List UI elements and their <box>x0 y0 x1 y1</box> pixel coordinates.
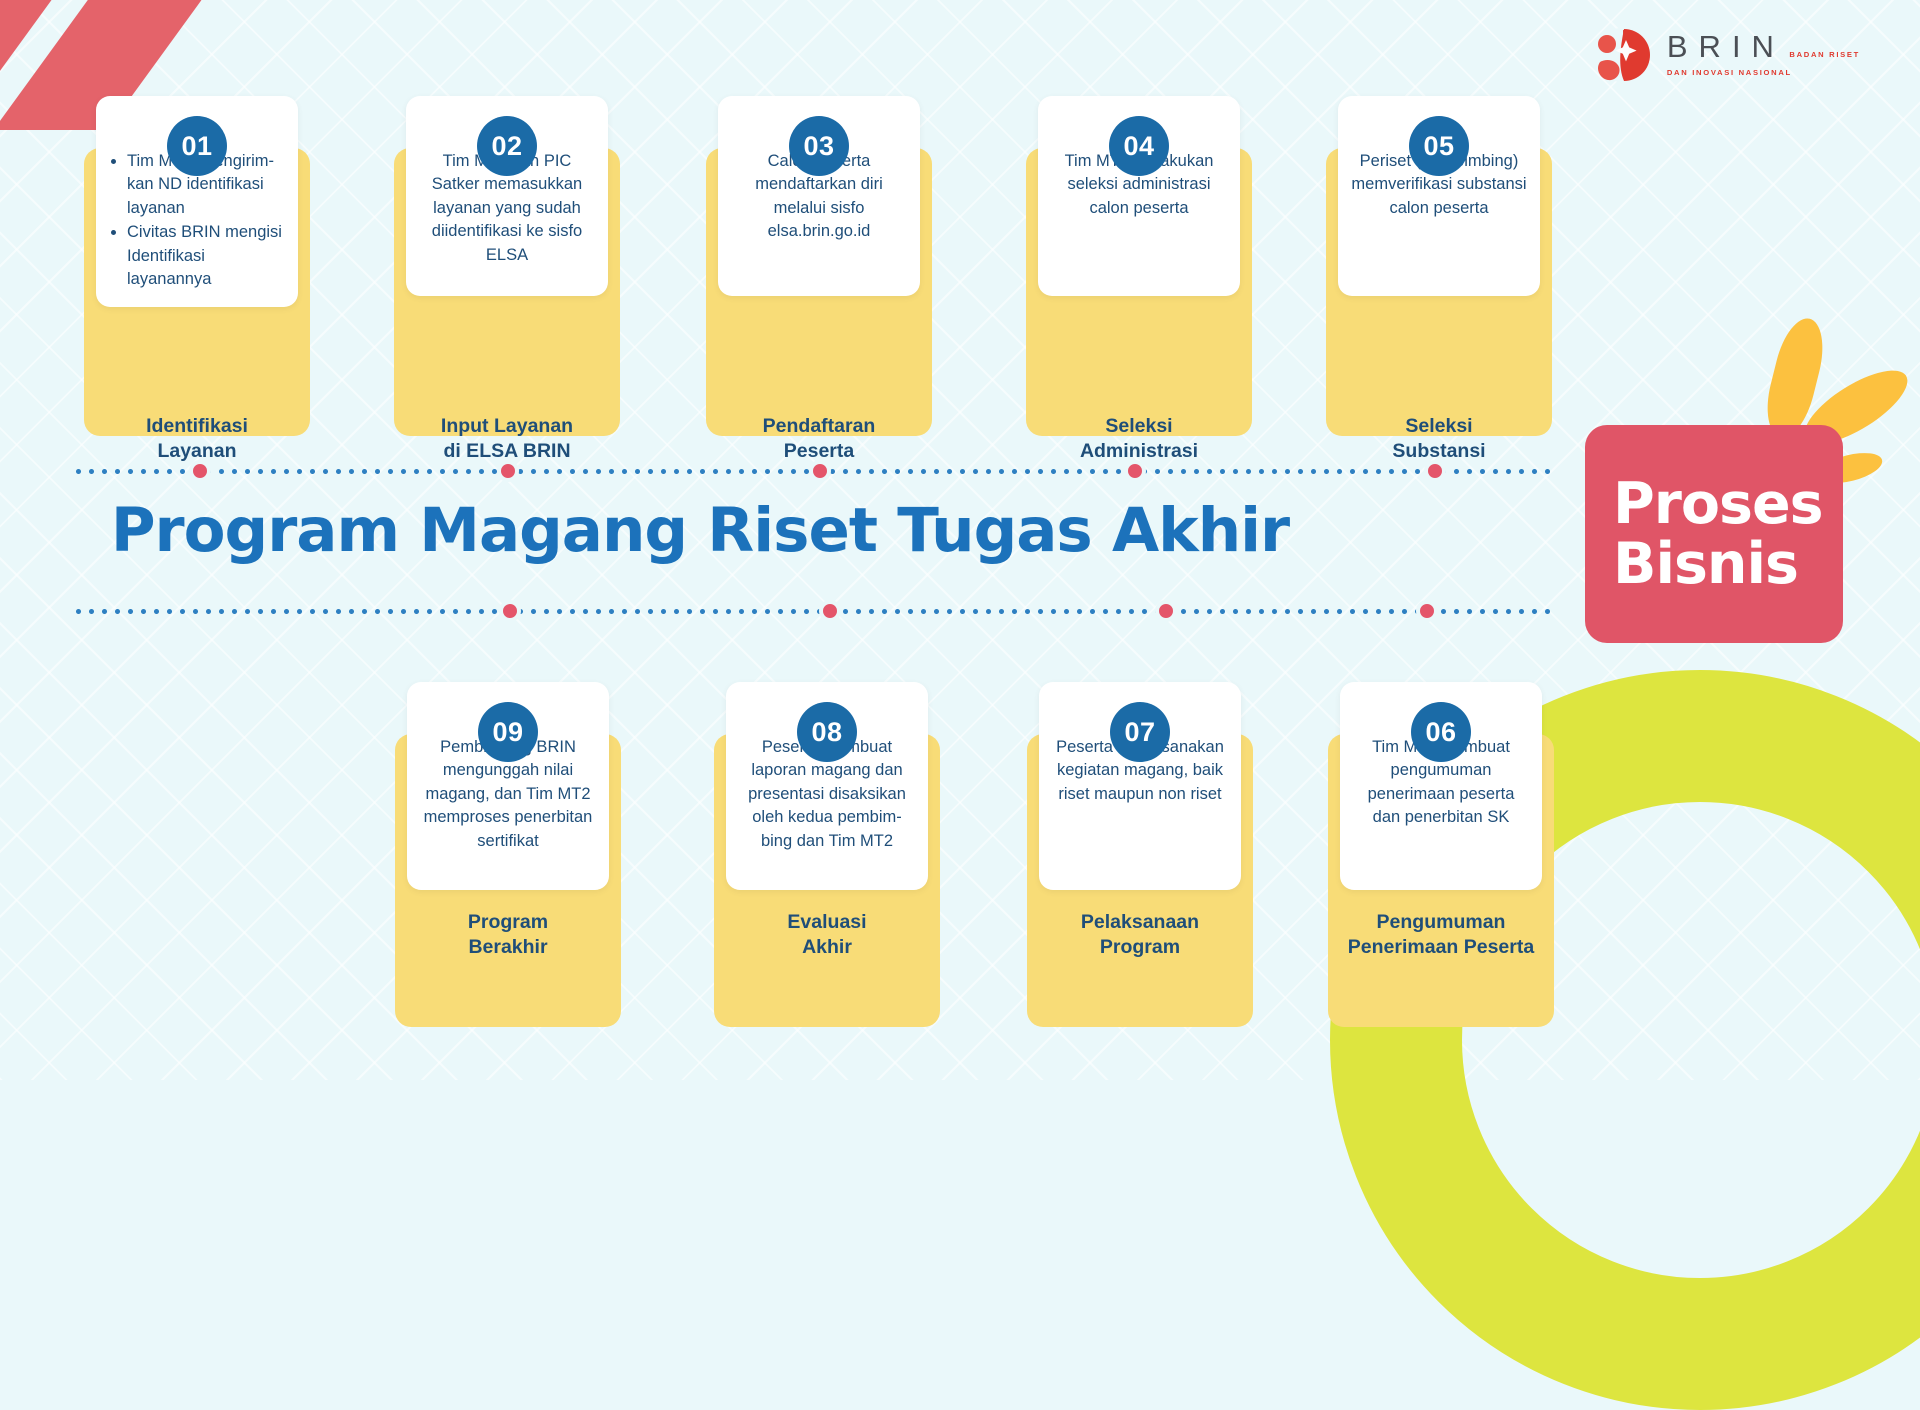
card-label-line1: Evaluasi <box>714 910 940 935</box>
card-label: Pengumuman Penerimaan Peserta <box>1328 910 1554 961</box>
card-number-badge: 09 <box>478 702 538 762</box>
timeline-node <box>1416 600 1438 622</box>
card-number-badge: 02 <box>477 116 537 176</box>
timeline-rail-top <box>72 466 1555 476</box>
card-label-line1: Seleksi <box>1326 414 1552 439</box>
card-label: Seleksi Substansi <box>1326 414 1552 465</box>
timeline-rail-bottom <box>72 606 1555 616</box>
brin-wordmark: BRIN BADAN RISET DAN INOVASI NASIONAL <box>1667 31 1860 80</box>
card-label-line1: Pendaftaran <box>706 414 932 439</box>
card-label-line2: Penerimaan Peserta <box>1328 935 1554 960</box>
card-label-line2: Program <box>1027 935 1253 960</box>
card-label-line1: Pengumuman <box>1328 910 1554 935</box>
brin-subtitle-line2: DAN INOVASI NASIONAL <box>1667 68 1792 77</box>
card-label-line1: Input Layanan <box>394 414 620 439</box>
card-label: Pelaksanaan Program <box>1027 910 1253 961</box>
brin-subtitle-line1: BADAN RISET <box>1789 50 1860 59</box>
card-number-badge: 03 <box>789 116 849 176</box>
card-number-badge: 07 <box>1110 702 1170 762</box>
card-label-line2: Substansi <box>1326 439 1552 464</box>
card-label-line2: Administrasi <box>1026 439 1252 464</box>
card-label: Program Berakhir <box>395 910 621 961</box>
brin-logo: BRIN BADAN RISET DAN INOVASI NASIONAL <box>1593 26 1860 84</box>
timeline-node <box>499 600 521 622</box>
card-label: Pendaftaran Peserta <box>706 414 932 465</box>
card-label: Seleksi Administrasi <box>1026 414 1252 465</box>
card-label-line2: Layanan <box>84 439 310 464</box>
card-label: Evaluasi Akhir <box>714 910 940 961</box>
card-number-badge: 01 <box>167 116 227 176</box>
card-label: Input Layanan di ELSA BRIN <box>394 414 620 465</box>
badge-box: Proses Bisnis <box>1585 425 1843 643</box>
card-number-badge: 08 <box>797 702 857 762</box>
brin-name: BRIN <box>1667 29 1785 64</box>
card-label-line1: Seleksi <box>1026 414 1252 439</box>
card-label-line2: Akhir <box>714 935 940 960</box>
timeline-node <box>1155 600 1177 622</box>
badge-line1: Proses <box>1613 474 1843 534</box>
card-number-badge: 06 <box>1411 702 1471 762</box>
brin-mark-svg <box>1593 26 1651 84</box>
card-number-badge: 05 <box>1409 116 1469 176</box>
card-label-line2: Peserta <box>706 439 932 464</box>
brin-logo-mark <box>1593 26 1651 84</box>
card-label-line2: Berakhir <box>395 935 621 960</box>
card-label-line1: Program <box>395 910 621 935</box>
card-label: Identifikasi Layanan <box>84 414 310 465</box>
timeline-dotted-line <box>72 609 1555 614</box>
card-number-badge: 04 <box>1109 116 1169 176</box>
card-label-line1: Pelaksanaan <box>1027 910 1253 935</box>
card-bullet: Civitas BRIN mengisi Identifikasi layana… <box>127 221 286 291</box>
card-label-line2: di ELSA BRIN <box>394 439 620 464</box>
proses-bisnis-badge: Proses Bisnis <box>1585 425 1843 643</box>
page-title: Program Magang Riset Tugas Akhir <box>0 495 1400 566</box>
badge-line2: Bisnis <box>1613 534 1843 594</box>
card-label-line1: Identifikasi <box>84 414 310 439</box>
timeline-node <box>819 600 841 622</box>
